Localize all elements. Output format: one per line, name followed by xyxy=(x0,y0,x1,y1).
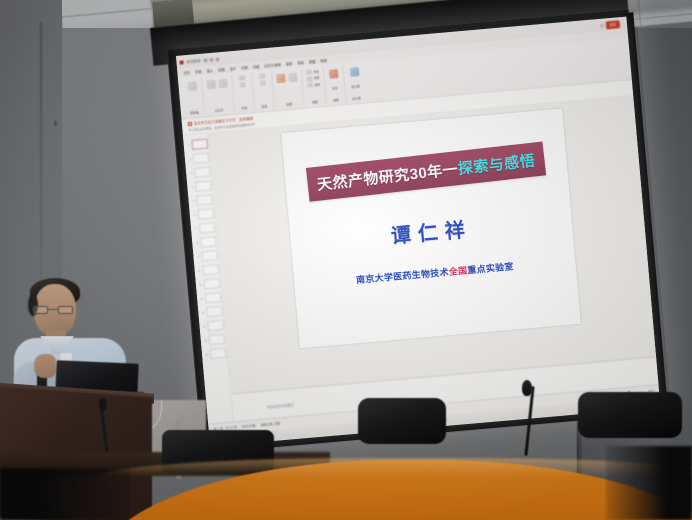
tab-draw[interactable]: 绘图 xyxy=(218,67,225,73)
tab-design[interactable]: 设计 xyxy=(229,66,236,72)
thumbnail-preview[interactable] xyxy=(202,264,219,275)
thumbnail-preview[interactable] xyxy=(198,222,215,233)
replace-icon xyxy=(306,76,312,82)
bullet-list-icon[interactable] xyxy=(258,73,264,79)
notes-placeholder: 单击此处添加备注 xyxy=(267,403,294,409)
thumbnail-number: 10 xyxy=(197,269,201,272)
tab-record[interactable]: 录制 xyxy=(286,61,293,67)
thumbnail-number: 13 xyxy=(200,311,204,314)
thumbnail-number: 11 xyxy=(198,283,202,286)
select-label: 选择 xyxy=(314,82,320,86)
thumbnail-number: 3 xyxy=(188,172,192,175)
ribbon-group-editing[interactable]: 查找 替换 选择 编辑 xyxy=(302,67,327,106)
presenter-hand xyxy=(34,354,56,378)
office-logo-icon xyxy=(179,60,183,64)
foreground-shadow-left xyxy=(0,468,130,520)
ribbon-group-designer[interactable]: 设计器 设计器 xyxy=(344,64,367,103)
ribbon-group-label-designer: 设计器 xyxy=(352,96,361,101)
font-name-box[interactable] xyxy=(238,75,244,81)
affiliation-part1: 南京大学医药生物技术 xyxy=(356,267,450,285)
replace-command[interactable]: 替换 xyxy=(306,75,319,81)
dictate-label: 听写 xyxy=(332,86,338,90)
ribbon-group-label-drawing: 绘图 xyxy=(286,102,292,106)
glasses-right-lens xyxy=(58,306,73,314)
tab-animations[interactable]: 动画 xyxy=(253,64,260,70)
thumbnail-number: 12 xyxy=(199,297,203,300)
thumbnail-preview[interactable] xyxy=(203,278,220,289)
thumbnail-preview[interactable] xyxy=(207,320,224,331)
slides-icons xyxy=(206,77,228,90)
tab-review[interactable]: 审阅 xyxy=(297,60,304,66)
thumbnail-number: 6 xyxy=(192,213,196,216)
thumbnail-number: 8 xyxy=(194,241,198,244)
wall-mark xyxy=(54,121,57,126)
tab-insert[interactable]: 插入 xyxy=(206,68,213,74)
autosave-toggle[interactable]: 自动保存 xyxy=(186,58,201,64)
thumbnail-preview[interactable] xyxy=(208,334,225,345)
designer-label: 设计器 xyxy=(351,84,360,89)
thumbnail-preview[interactable] xyxy=(193,167,210,178)
glasses-bridge xyxy=(48,309,58,310)
affiliation-part2: 重点实验室 xyxy=(467,261,514,275)
thumbnail-preview[interactable] xyxy=(195,180,212,191)
arrange-icon[interactable] xyxy=(288,73,298,83)
foreground-shadow-right xyxy=(606,446,692,520)
align-left-icon xyxy=(259,80,265,86)
find-icon xyxy=(306,69,312,75)
thumbnail-number: 2 xyxy=(187,158,191,161)
editing-controls: 查找 替换 选择 xyxy=(306,69,321,88)
align-icon[interactable] xyxy=(259,80,265,86)
ribbon-group-drawing[interactable]: 绘图 xyxy=(272,69,305,108)
thumbnail-preview[interactable] xyxy=(199,236,216,247)
share-button[interactable]: 共享 xyxy=(605,20,620,29)
select-icon xyxy=(307,82,313,88)
ribbon-group-label-voice: 语音 xyxy=(333,98,339,102)
thumbnail-number: 5 xyxy=(191,199,195,202)
affiliation-highlight: 全国 xyxy=(448,265,467,277)
ppt-work-area: 1 2 3 4 5 6 7 8 9 10 11 12 13 14 15 16 xyxy=(183,96,658,423)
save-icon[interactable] xyxy=(204,58,208,62)
thumbnail-number: 14 xyxy=(202,325,206,328)
thumbnail-number: 7 xyxy=(193,227,197,230)
shapes-icon[interactable] xyxy=(276,74,286,84)
slide-editing-pane[interactable]: 天然产物研究30年一探索与感悟 谭仁祥 南京大学医药生物技术全国重点实验室 单击… xyxy=(209,96,659,421)
designer-icon[interactable] xyxy=(349,67,359,77)
dictate-icon[interactable] xyxy=(329,69,339,79)
tab-slideshow[interactable]: 幻灯片放映 xyxy=(264,62,281,68)
designer-icons xyxy=(349,65,359,77)
undo-icon[interactable] xyxy=(210,57,214,61)
ribbon-group-label-editing: 编辑 xyxy=(312,100,318,104)
accessibility-indicator[interactable]: 辅助功能: 调查 xyxy=(261,421,281,427)
conference-room-scene: 自动保存 共享 文件 开始 插入 绘图 设计 切换 动画 幻灯片放映 录制 审阅… xyxy=(0,0,692,520)
thumbnail-preview[interactable] xyxy=(192,153,209,164)
voice-icons xyxy=(329,67,339,79)
chair-headrest-center xyxy=(358,398,446,444)
thumbnail-number: 4 xyxy=(189,185,193,188)
ribbon-group-label-slides: 幻灯片 xyxy=(215,108,224,113)
tab-file[interactable]: 文件 xyxy=(183,70,190,76)
clipboard-icons xyxy=(187,79,197,91)
thumbnail-preview[interactable] xyxy=(196,194,213,205)
thumbnail-number: 16 xyxy=(204,353,208,356)
thumbnail-preview[interactable] xyxy=(206,306,223,317)
font-controls xyxy=(238,75,245,87)
thumbnail-preview[interactable] xyxy=(197,208,214,219)
replace-label: 替换 xyxy=(314,76,320,80)
find-label: 查找 xyxy=(313,69,319,73)
thumbnail-number: 1 xyxy=(186,144,190,147)
select-command[interactable]: 选择 xyxy=(307,82,320,88)
powerpoint-window[interactable]: 自动保存 共享 文件 开始 插入 绘图 设计 切换 动画 幻灯片放映 录制 审阅… xyxy=(176,17,660,447)
redo-icon[interactable] xyxy=(216,57,220,61)
slide-title-banner[interactable]: 天然产物研究30年一探索与感悟 xyxy=(306,141,546,201)
thumbnail-preview[interactable] xyxy=(204,292,221,303)
gooseneck-microphone-center-head xyxy=(522,380,532,396)
tab-home[interactable]: 开始 xyxy=(195,69,202,75)
ribbon-group-slides[interactable]: 幻灯片 xyxy=(202,75,235,114)
thumbnail-preview[interactable] xyxy=(191,139,208,150)
font-name-icon xyxy=(238,75,244,81)
new-slide-icon[interactable] xyxy=(206,80,216,90)
tab-view[interactable]: 视图 xyxy=(309,59,316,65)
ribbon-group-label-font: 字体 xyxy=(241,106,247,110)
gooseneck-microphone-left-head xyxy=(99,398,107,411)
thumbnail-item[interactable]: 16 xyxy=(202,346,228,362)
tab-help[interactable]: 帮助 xyxy=(320,58,327,64)
ribbon-group-label-clipboard: 剪贴板 xyxy=(190,110,199,115)
thumbnail-number: 15 xyxy=(203,339,207,342)
bullets-icon xyxy=(258,73,264,79)
chair-headrest-right xyxy=(578,392,682,438)
layout-icon[interactable] xyxy=(218,79,228,89)
font-size-box[interactable] xyxy=(239,82,245,88)
ribbon-group-label-paragraph: 段落 xyxy=(261,104,267,108)
thumbnail-preview[interactable] xyxy=(201,250,218,261)
slide-title-cyan: 探索与感悟 xyxy=(457,152,536,178)
thumbnail-number: 9 xyxy=(195,255,199,258)
find-command[interactable]: 查找 xyxy=(306,69,319,75)
current-slide[interactable]: 天然产物研究30年一探索与感悟 谭仁祥 南京大学医药生物技术全国重点实验室 xyxy=(281,109,581,349)
language-indicator[interactable]: 中文(中国) xyxy=(242,423,256,428)
shield-icon xyxy=(188,122,192,126)
glasses-left-lens xyxy=(33,306,48,314)
paragraph-controls xyxy=(258,73,265,85)
drawing-icons xyxy=(276,71,298,84)
thumbnail-preview[interactable] xyxy=(209,348,226,359)
slide-title-white: 天然产物研究30年一 xyxy=(316,161,459,194)
tab-transitions[interactable]: 切换 xyxy=(241,65,248,71)
paste-icon[interactable] xyxy=(187,81,197,91)
font-size-icon xyxy=(239,82,245,88)
search-icon[interactable] xyxy=(599,23,603,27)
slide-presenter-name[interactable]: 谭仁祥 xyxy=(289,204,572,257)
glasses-icon xyxy=(33,306,73,314)
slide-title-text: 天然产物研究30年一探索与感悟 xyxy=(316,149,536,194)
slide-affiliation[interactable]: 南京大学医药生物技术全国重点实验室 xyxy=(294,254,576,292)
